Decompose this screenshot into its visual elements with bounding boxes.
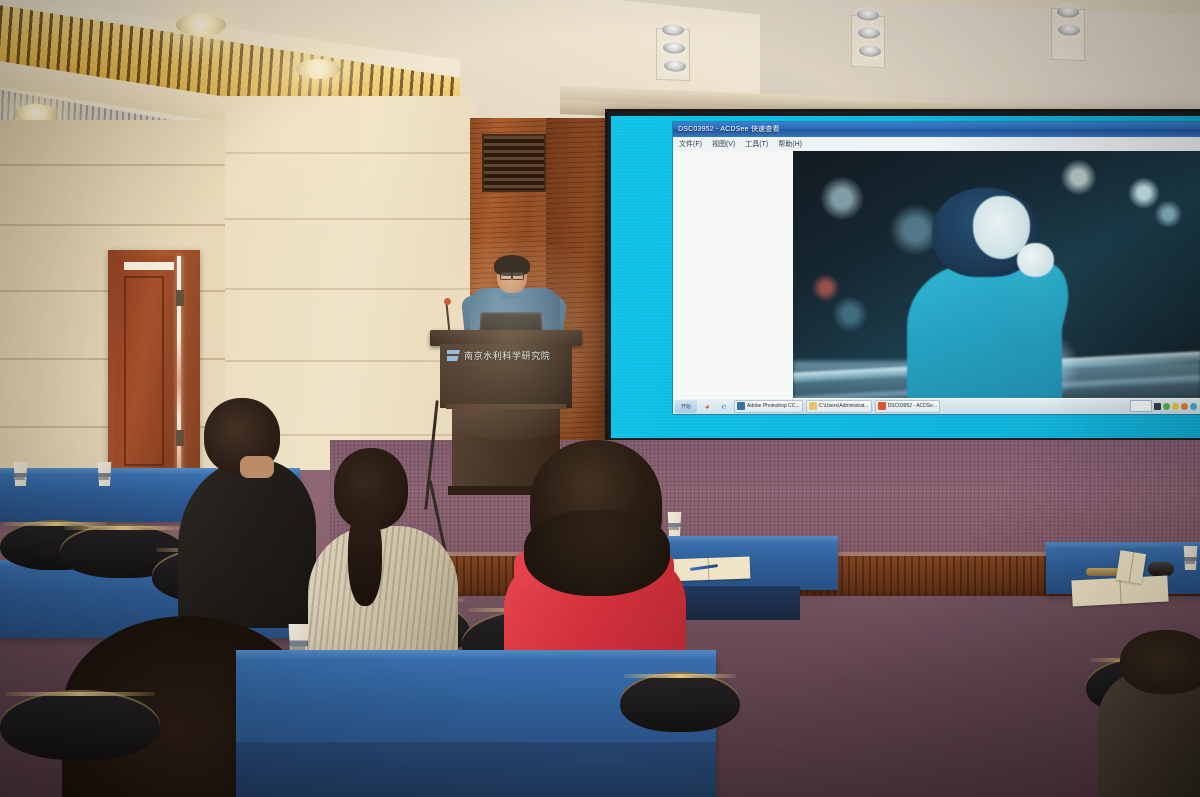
door-panel (124, 276, 164, 466)
conference-hall-photo: DSC03952 - ACDSee 快速查看 文件(F) 视图(V) 工具(T)… (0, 0, 1200, 797)
podium-microphone-icon (444, 298, 451, 305)
network-icon[interactable] (1163, 403, 1170, 410)
language-bar[interactable] (1130, 400, 1152, 412)
projection-screen[interactable]: DSC03952 - ACDSee 快速查看 文件(F) 视图(V) 工具(T)… (611, 116, 1200, 438)
audience-neck (240, 456, 274, 478)
ceiling-downlight (296, 59, 340, 79)
microphone-icon[interactable] (1148, 562, 1174, 576)
water-bottle[interactable] (1142, 500, 1159, 553)
podium-branding: 南京水利科学研究院 (447, 349, 550, 362)
menu-item-help[interactable]: 帮助(H) (778, 139, 802, 149)
glasses-icon (500, 272, 524, 278)
volume-icon[interactable] (1172, 403, 1179, 410)
water-bottle[interactable] (26, 440, 40, 484)
open-book-page (1116, 550, 1146, 584)
audience-ponytail (348, 510, 382, 606)
table-edge (236, 650, 716, 659)
water-bottle[interactable] (318, 590, 339, 656)
water-bottle[interactable] (702, 490, 716, 534)
folder-icon (809, 402, 817, 410)
door-hinge (176, 290, 184, 306)
chair[interactable] (620, 672, 740, 732)
acdsee-window[interactable]: DSC03952 - ACDSee 快速查看 文件(F) 视图(V) 工具(T)… (673, 122, 1200, 414)
acdsee-icon (878, 402, 886, 410)
menu-item-file[interactable]: 文件(F) (679, 139, 702, 149)
taskbar-button-explorer[interactable]: C:\Users\Administrat... (806, 400, 872, 413)
audience-head (1120, 630, 1200, 694)
taskbar-button-label: Adobe Photoshop CC... (747, 403, 800, 409)
menu-item-tools[interactable]: 工具(T) (745, 139, 768, 149)
window-menu-bar[interactable]: 文件(F) 视图(V) 工具(T) 帮助(H) (673, 137, 1200, 151)
audience-torso (178, 460, 316, 628)
chair[interactable] (0, 690, 160, 760)
projection-screen-frame: DSC03952 - ACDSee 快速查看 文件(F) 视图(V) 工具(T)… (608, 112, 1200, 442)
system-tray[interactable] (1130, 400, 1199, 412)
window-title-bar: DSC03952 - ACDSee 快速查看 (673, 122, 1200, 137)
photo-subject-hand (1017, 243, 1054, 277)
table-shadow (236, 742, 716, 797)
battery-icon[interactable] (1154, 403, 1161, 410)
water-bottle[interactable] (112, 440, 126, 484)
microphone-stand (1086, 568, 1120, 576)
taskbar-button-label: C:\Users\Administrat... (819, 403, 869, 409)
menu-item-view[interactable]: 视图(V) (712, 139, 735, 149)
taskbar-button-label: DSC03952 - ACDSe... (888, 403, 937, 409)
start-button[interactable]: 开始 (675, 400, 697, 413)
air-vent-icon (482, 134, 546, 192)
internet-explorer-icon[interactable]: ℮ (717, 400, 731, 413)
nhri-logo-icon (447, 350, 460, 361)
update-icon[interactable] (1190, 403, 1197, 410)
ceiling-downlight (176, 14, 226, 36)
windows-taskbar[interactable]: 开始 ◕ ℮ Adobe Photoshop CC... C:\Users\Ad… (673, 398, 1200, 414)
photoshop-icon (737, 402, 745, 410)
door-transom (124, 262, 174, 270)
audience-member (178, 398, 318, 628)
podium-organization-name: 南京水利科学研究院 (464, 349, 550, 362)
shield-icon[interactable] (1181, 403, 1188, 410)
window-blank-area (673, 151, 793, 396)
media-player-icon[interactable]: ◕ (700, 400, 714, 413)
audience-member (1098, 630, 1200, 797)
photo-canvas (793, 151, 1200, 414)
audience-hair-strands (524, 510, 670, 596)
taskbar-button-acdsee[interactable]: DSC03952 - ACDSe... (875, 400, 940, 413)
taskbar-button-photoshop[interactable]: Adobe Photoshop CC... (734, 400, 803, 413)
